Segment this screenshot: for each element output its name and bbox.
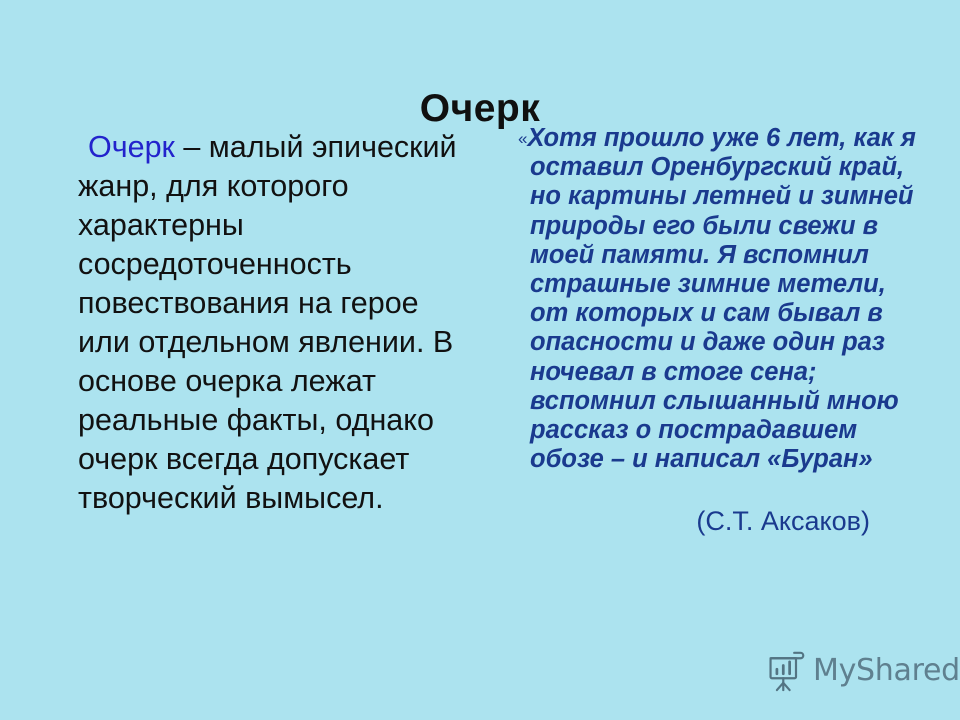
definition-term: Очерк <box>88 130 175 164</box>
watermark-label: MyShared <box>813 656 960 686</box>
definition-paragraph: Очерк – малый эпический жанр, для которо… <box>78 128 474 518</box>
quote-attribution: (С.Т. Аксаков) <box>512 505 904 537</box>
quote-text: Хотя прошло уже 6 лет, как я оставил Оре… <box>527 124 915 473</box>
definition-body: – малый эпический жанр, для которого хар… <box>78 130 457 515</box>
slide-canvas: Очерк Очерк – малый эпический жанр, для … <box>0 0 960 720</box>
quote-paragraph: «Хотя прошло уже 6 лет, как я оставил Ор… <box>512 124 922 474</box>
myshared-watermark: MyShared <box>766 650 960 692</box>
presentation-easel-chart-icon <box>766 650 806 692</box>
